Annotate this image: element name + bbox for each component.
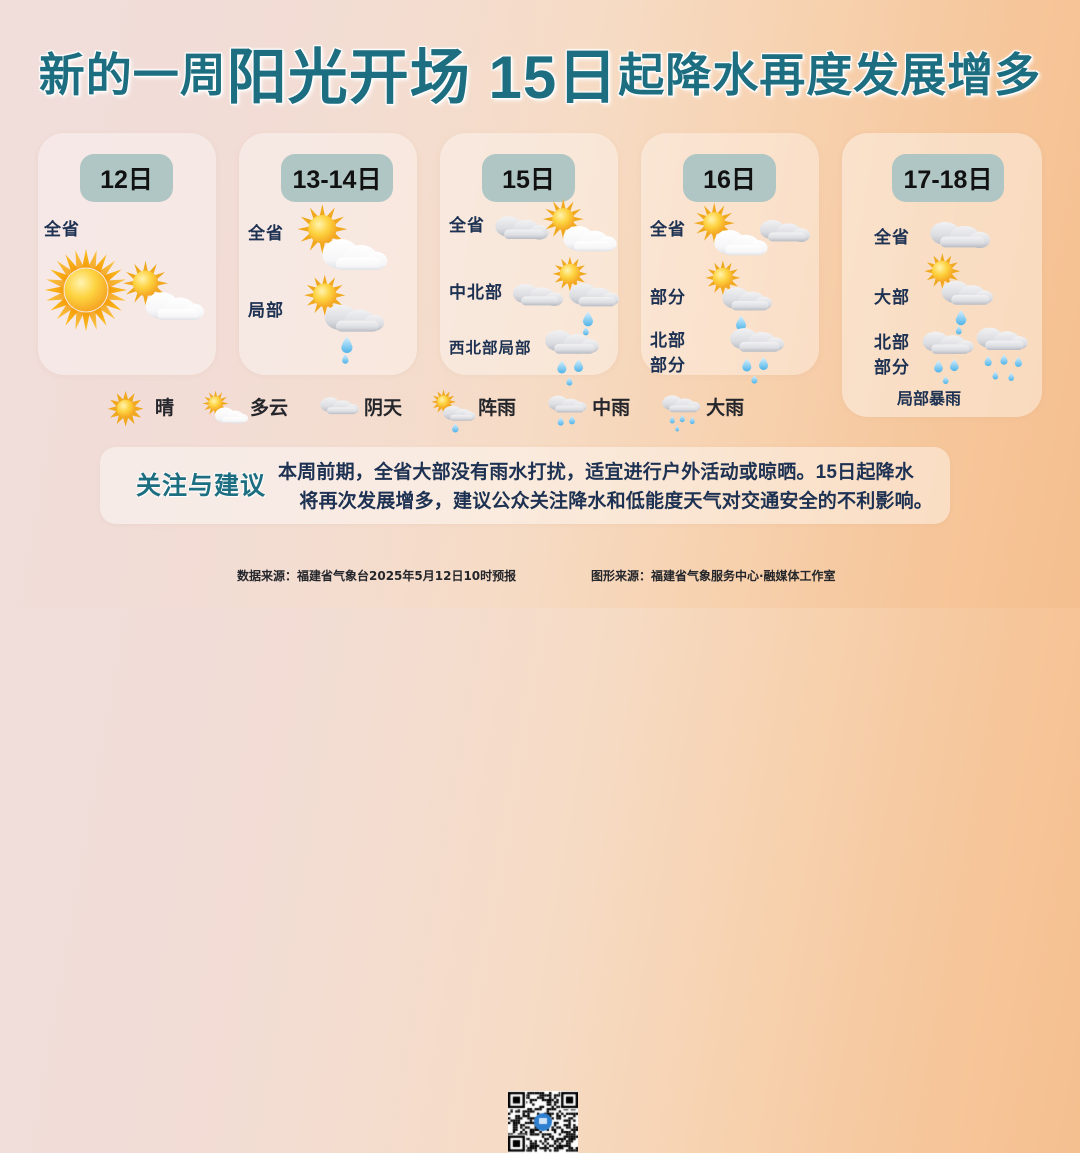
forecast-card-12[interactable]: 12日 全省 <box>38 133 216 375</box>
legend-label: 中雨 <box>592 393 630 420</box>
moderate-rain-icon <box>542 388 590 424</box>
legend-item-overcast: 阴天 <box>314 388 402 424</box>
weather-icon-partly-cloudy <box>294 201 394 279</box>
page-title: 新的一周 阳光开场 15日 起降水 再度发展增多 <box>0 34 1080 110</box>
weather-icon-shower <box>301 273 396 365</box>
card-note: 局部暴雨 <box>897 385 961 409</box>
date-badge: 12日 <box>80 154 173 202</box>
region-label: 全省 <box>449 211 485 236</box>
weather-icon-partly-cloudy <box>120 258 210 328</box>
region-label: 局部 <box>248 296 284 321</box>
title-segment-2: 阳光开场 15日 <box>227 29 618 116</box>
legend-item-partly-cloudy: 多云 <box>200 388 288 424</box>
advisory-line-1: 本周前期，全省大部没有雨水打扰，适宜进行户外活动或晾晒。15日起降水 <box>278 462 914 483</box>
legend-label: 晴 <box>155 393 174 420</box>
region-label: 中北部 <box>449 278 503 303</box>
forecast-card-list: 12日 全省 <box>0 133 1080 423</box>
date-badge: 13-14日 <box>281 154 393 202</box>
title-segment-3: 起降水 <box>618 39 759 105</box>
legend-item-moderate-rain: 中雨 <box>542 388 630 424</box>
region-label: 全省 <box>650 215 686 240</box>
forecast-card-17-18[interactable]: 17-18日 全省 大部 <box>842 133 1042 417</box>
forecast-card-15[interactable]: 15日 全省 <box>440 133 618 375</box>
region-label-line2: 部分 <box>874 358 910 378</box>
sunny-icon <box>105 388 153 424</box>
region-label: 大部 <box>874 283 910 308</box>
region-label: 西北部局部 <box>449 336 532 358</box>
overcast-icon <box>314 388 362 424</box>
advisory-box: 关注与建议 本周前期，全省大部没有雨水打扰，适宜进行户外活动或晾晒。15日起降水… <box>100 447 950 524</box>
partly-cloudy-icon <box>200 388 248 424</box>
region-label: 北部 部分 <box>874 331 910 381</box>
footer: 数据来源：福建省气象台2025年5月12日10时预报 图形来源：福建省气象服务中… <box>0 545 1080 608</box>
weather-icon-moderate-rain <box>536 321 612 391</box>
region-label: 北部 部分 <box>650 329 686 379</box>
legend-item-shower: 阵雨 <box>428 388 516 424</box>
title-segment-1: 新的一周 <box>39 39 227 105</box>
region-label-line2: 部分 <box>650 356 686 376</box>
legend-label: 阵雨 <box>478 393 516 420</box>
date-badge: 17-18日 <box>892 154 1004 202</box>
legend-item-heavy-rain: 大雨 <box>656 388 744 424</box>
region-label-line1: 北部 <box>650 331 686 351</box>
forecast-card-16[interactable]: 16日 全省 <box>641 133 819 375</box>
advisory-label: 关注与建议 <box>136 466 266 502</box>
advisory-line-2: 将再次发展增多，建议公众关注降水和低能度天气对交通安全的不利影响。 <box>278 487 933 516</box>
shower-icon <box>428 388 476 424</box>
forecast-card-13-14[interactable]: 13-14日 全省 <box>239 133 417 375</box>
weather-icon-moderate-rain <box>721 319 797 389</box>
legend-item-sunny: 晴 <box>105 388 174 424</box>
weather-icon-partly-cloudy <box>540 195 622 261</box>
data-source-text: 数据来源：福建省气象台2025年5月12日10时预报 <box>237 567 516 584</box>
title-segment-4: 再度发展增多 <box>759 39 1041 105</box>
region-label: 全省 <box>44 215 80 240</box>
legend-label: 阴天 <box>364 393 402 420</box>
qr-code[interactable] <box>508 1091 578 1153</box>
date-badge: 16日 <box>683 154 776 202</box>
advisory-text: 本周前期，全省大部没有雨水打扰，适宜进行户外活动或晾晒。15日起降水 将再次发展… <box>278 458 933 516</box>
region-label: 全省 <box>874 223 910 248</box>
region-label-line1: 北部 <box>874 333 910 353</box>
legend-label: 多云 <box>250 393 288 420</box>
weather-icon-sunny <box>43 247 129 333</box>
region-label: 全省 <box>248 219 284 244</box>
weather-icon-overcast <box>753 209 815 253</box>
weather-icon-heavy-rain <box>968 319 1040 391</box>
heavy-rain-icon <box>656 388 704 424</box>
region-label: 部分 <box>650 283 686 308</box>
legend-label: 大雨 <box>706 393 744 420</box>
graphic-source-text: 图形来源：福建省气象服务中心·融媒体工作室 <box>591 567 836 584</box>
weather-legend: 晴 <box>105 385 805 427</box>
